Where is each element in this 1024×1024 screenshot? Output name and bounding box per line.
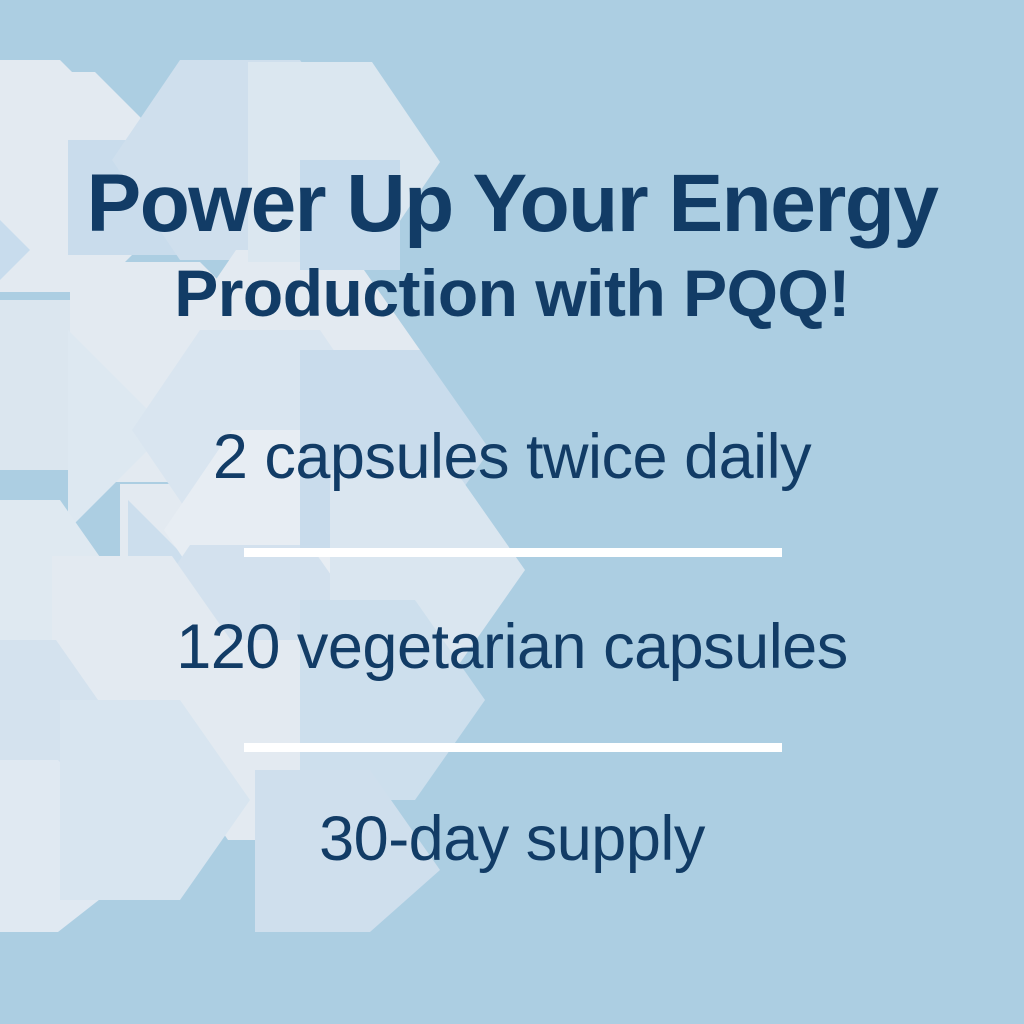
divider-after-dosage <box>244 548 782 557</box>
spec-supply-duration: 30-day supply <box>0 808 1024 871</box>
content-stack: Power Up Your Energy Production with PQQ… <box>0 0 1024 1024</box>
spec-capsule-count: 120 vegetarian capsules <box>0 616 1024 679</box>
product-info-graphic: Power Up Your Energy Production with PQQ… <box>0 0 1024 1024</box>
divider-after-count <box>244 743 782 752</box>
spec-dosage: 2 capsules twice daily <box>0 426 1024 489</box>
headline-secondary: Production with PQQ! <box>0 260 1024 326</box>
headline-primary: Power Up Your Energy <box>0 163 1024 245</box>
